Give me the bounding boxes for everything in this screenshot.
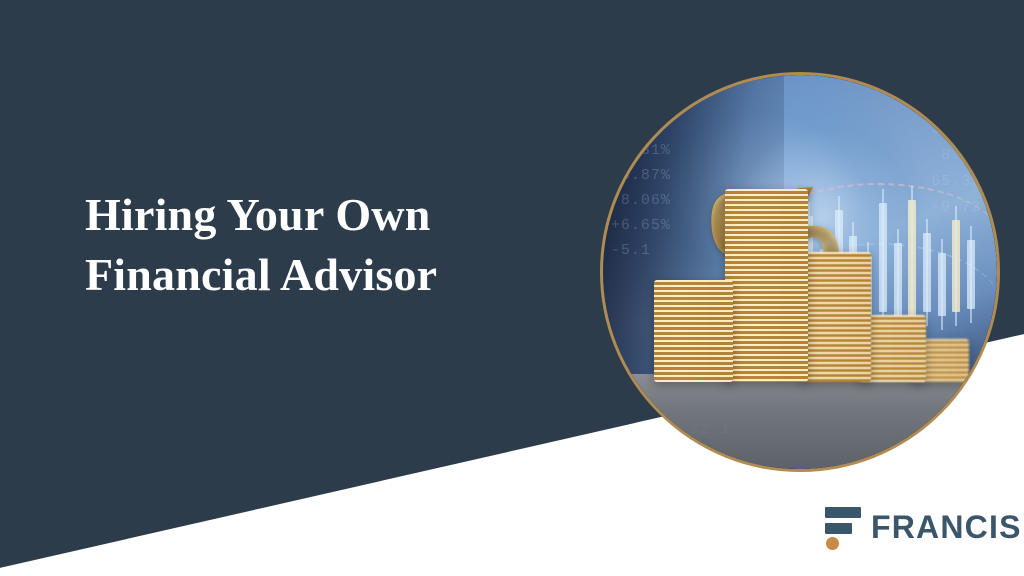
candlestick-bar [908, 200, 916, 316]
candlestick-bar [923, 233, 931, 312]
candlestick-wick [941, 239, 943, 330]
candlestick-wick [955, 206, 957, 327]
slide-canvas: Hiring Your Own Financial Advisor +1.31%… [0, 0, 1024, 576]
brand-logo: FRANCIS [820, 503, 1022, 551]
title-line-1: Hiring Your Own [85, 185, 575, 245]
ticker-value: 33.15 [784, 117, 981, 143]
logo-bar-middle [825, 523, 852, 534]
francis-f-mark-icon [820, 503, 862, 551]
candlestick-wick [926, 219, 928, 326]
logo-bar-top [825, 507, 861, 518]
logo-accent-dot-icon [826, 537, 839, 550]
ticker-value: 21.74 [784, 91, 981, 117]
photo-table-surface [603, 374, 997, 469]
hero-photo-image: +1.31% -3.87% -8.06% +6.65% -5.1 21.74 3… [603, 75, 997, 469]
candlestick-bar [967, 240, 975, 309]
hero-photo-circle: +1.31% -3.87% -8.06% +6.65% -5.1 21.74 3… [600, 72, 1000, 472]
coin-stack [725, 189, 808, 382]
candlestick-wick [911, 186, 913, 330]
candlestick-wick [882, 189, 884, 326]
coin-stack [654, 280, 733, 382]
candlestick-bar [894, 243, 902, 316]
brand-name: FRANCIS [871, 511, 1022, 543]
candlestick-bar [952, 220, 960, 313]
candlestick-bar [879, 203, 887, 312]
coin-stack [800, 252, 871, 382]
ticker-value: 201.81 [690, 397, 752, 419]
candlestick-wick [970, 226, 972, 323]
ticker-value: 32.1 [690, 419, 752, 441]
photo-ticker-bottom: 201.81 32.1 [690, 397, 752, 441]
slide-title: Hiring Your Own Financial Advisor [85, 185, 575, 305]
title-line-2: Financial Advisor [85, 245, 575, 305]
candlestick-bar [938, 253, 946, 316]
